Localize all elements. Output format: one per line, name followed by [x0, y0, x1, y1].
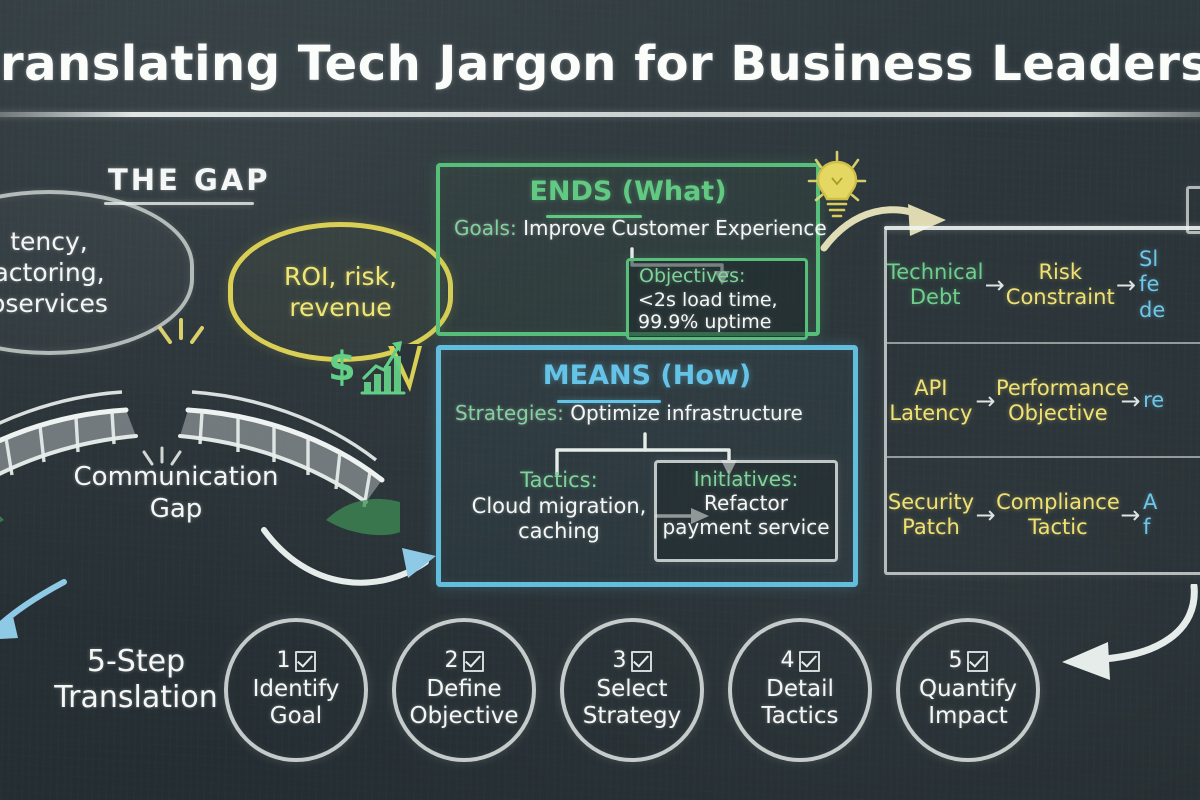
objectives-label: Objectives: — [639, 265, 745, 287]
step-number: 5 — [949, 650, 963, 672]
checkbox-icon — [799, 651, 820, 672]
bmc-term-line-2: Tactic — [996, 515, 1120, 540]
bmc-term-line-2: Constraint — [1006, 285, 1115, 310]
means-strategies-label: Strategies: — [455, 401, 564, 425]
tech-term-line-1: Technical — [887, 260, 983, 285]
step-label-line-1: Define — [409, 676, 518, 703]
table-cell-tech-term: Technical Debt — [887, 260, 983, 310]
step-label-line-1: Detail — [761, 676, 838, 703]
tech-jargon-line-3: oservices — [0, 288, 108, 319]
step-header: 3 — [613, 650, 652, 672]
step-header: 1 — [277, 650, 316, 672]
communication-gap-caption: Communication Gap — [62, 462, 290, 525]
step-label: Identify Goal — [253, 676, 340, 730]
step-number: 4 — [781, 650, 795, 672]
row-arrow-1-icon: → — [975, 387, 996, 415]
row-arrow-2-icon: → — [1120, 387, 1141, 415]
bmc-term-line-2: Objective — [996, 401, 1120, 426]
table-cell-business-impact: A f — [1141, 490, 1200, 540]
tactics-line-1: Cloud migration, — [469, 494, 649, 519]
step-label: Quantify Impact — [919, 676, 1017, 730]
step-circle-select-strategy[interactable]: 3 Select Strategy — [560, 618, 704, 762]
ends-goals-label: Goals: — [454, 216, 517, 240]
business-impact-line-1: A — [1143, 490, 1200, 515]
checkbox-icon — [967, 651, 988, 672]
tactics-value: Cloud migration, caching — [469, 494, 649, 544]
means-strategies-row: Strategies: Optimize infrastructure — [455, 401, 841, 425]
tactics-label: Tactics: — [469, 468, 649, 492]
tech-jargon-line-2: actoring, — [0, 257, 108, 288]
step-label-line-1: Identify — [253, 676, 340, 703]
five-step-label-line-1: 5-Step — [46, 644, 226, 680]
step-label: Select Strategy — [583, 676, 682, 730]
step-label-line-2: Goal — [253, 703, 340, 730]
arrow-loop-left — [0, 578, 68, 648]
checkbox-icon — [463, 651, 484, 672]
objectives-line-1: <2s load time, — [638, 289, 800, 311]
step-label: Define Objective — [409, 676, 518, 730]
objectives-subbox: Objectives: <2s load time, 99.9% uptime — [626, 258, 808, 340]
row-arrow-2-icon: → — [1115, 271, 1137, 299]
step-number: 3 — [613, 650, 627, 672]
table-cell-bmc-term: Compliance Tactic — [996, 490, 1120, 540]
bmc-term-line-1: Risk — [1006, 260, 1115, 285]
objectives-value: <2s load time, 99.9% uptime — [638, 289, 800, 334]
initiatives-line-2: payment service — [657, 515, 835, 539]
means-strategies-value: Optimize infrastructure — [570, 401, 803, 425]
checkbox-icon — [295, 651, 316, 672]
step-label-line-2: Objective — [409, 703, 518, 730]
business-impact-line-2: re — [1143, 388, 1200, 413]
step-label-line-2: Impact — [919, 703, 1017, 730]
means-panel-title: MEANS (How) — [441, 360, 853, 391]
tactics-line-2: caching — [469, 519, 649, 544]
tech-term-line-2: Latency — [887, 401, 975, 426]
title-divider — [0, 112, 1200, 117]
business-impact-line-2: fe — [1139, 272, 1200, 297]
table-cell-business-impact: Sl fe de — [1137, 247, 1200, 323]
step-label-line-2: Tactics — [761, 703, 838, 730]
initiatives-subbox: Initiatives: Refactor payment service — [654, 460, 838, 562]
arrow-table-to-steps — [1022, 584, 1200, 694]
ends-panel-title: ENDS (What) — [440, 176, 816, 207]
table-cell-tech-term: Security Patch — [887, 490, 975, 540]
table-cell-business-impact: re — [1141, 388, 1200, 413]
row-arrow-1-icon: → — [983, 271, 1005, 299]
step-label: Detail Tactics — [761, 676, 838, 730]
step-label-line-1: Select — [583, 676, 682, 703]
step-circle-quantify-impact[interactable]: 5 Quantify Impact — [896, 618, 1040, 762]
page-title: ranslating Tech Jargon for Business Lead… — [0, 36, 1200, 92]
business-impact-line-1: Sl — [1139, 247, 1200, 272]
gap-caption-line-2: Gap — [62, 494, 290, 526]
table-cell-tech-term: API Latency — [887, 376, 975, 426]
bmc-term-line-1: Compliance — [996, 490, 1120, 515]
step-label-line-2: Strategy — [583, 703, 682, 730]
initiatives-label: Initiatives: — [657, 467, 835, 491]
step-header: 4 — [781, 650, 820, 672]
ends-goals-value: Improve Customer Experience — [523, 216, 827, 240]
step-number: 2 — [445, 650, 459, 672]
step-number: 1 — [277, 650, 291, 672]
step-circle-define-objective[interactable]: 2 Define Objective — [392, 618, 536, 762]
initiatives-value: Refactor payment service — [657, 491, 835, 539]
tactics-block: Tactics: Cloud migration, caching — [469, 468, 649, 544]
bmc-term-line-1: Performance — [996, 376, 1120, 401]
table-cell-bmc-term: Risk Constraint — [1006, 260, 1115, 310]
table-row: Technical Debt → Risk Constraint → Sl fe… — [887, 228, 1200, 342]
chalkboard-canvas: ranslating Tech Jargon for Business Lead… — [0, 0, 1200, 800]
step-header: 5 — [949, 650, 988, 672]
tech-term-line-2: Patch — [887, 515, 975, 540]
arrow-gap-to-means — [258, 512, 458, 602]
table-row: API Latency → Performance Objective → re — [887, 342, 1200, 458]
five-step-label: 5-Step Translation — [46, 644, 226, 716]
row-arrow-1-icon: → — [975, 501, 996, 529]
checkbox-icon — [631, 651, 652, 672]
step-label-line-1: Quantify — [919, 676, 1017, 703]
row-arrow-2-icon: → — [1120, 501, 1141, 529]
tech-term-line-1: Security — [887, 490, 975, 515]
business-impact-line-2: f — [1143, 515, 1200, 540]
table-row: Security Patch → Compliance Tactic → A f — [887, 456, 1200, 572]
business-terms-line-1: ROI, risk, — [284, 261, 397, 292]
jargon-translation-table: Technical Debt → Risk Constraint → Sl fe… — [884, 228, 1200, 575]
business-terms-line-2: revenue — [284, 292, 397, 323]
step-circle-identify-goal[interactable]: 1 Identify Goal — [224, 618, 368, 762]
business-impact-line-3: de — [1139, 298, 1200, 323]
tech-jargon-line-1: tency, — [0, 226, 108, 257]
tech-term-line-1: API — [887, 376, 975, 401]
step-header: 2 — [445, 650, 484, 672]
gap-caption-line-1: Communication — [62, 462, 290, 494]
five-step-label-line-2: Translation — [46, 680, 226, 716]
table-cell-bmc-term: Performance Objective — [996, 376, 1120, 426]
step-circle-detail-tactics[interactable]: 4 Detail Tactics — [728, 618, 872, 762]
tech-term-line-2: Debt — [887, 285, 983, 310]
objectives-line-2: 99.9% uptime — [638, 311, 800, 333]
ends-goals-row: Goals: Improve Customer Experience — [454, 216, 802, 240]
initiatives-line-1: Refactor — [657, 491, 835, 515]
